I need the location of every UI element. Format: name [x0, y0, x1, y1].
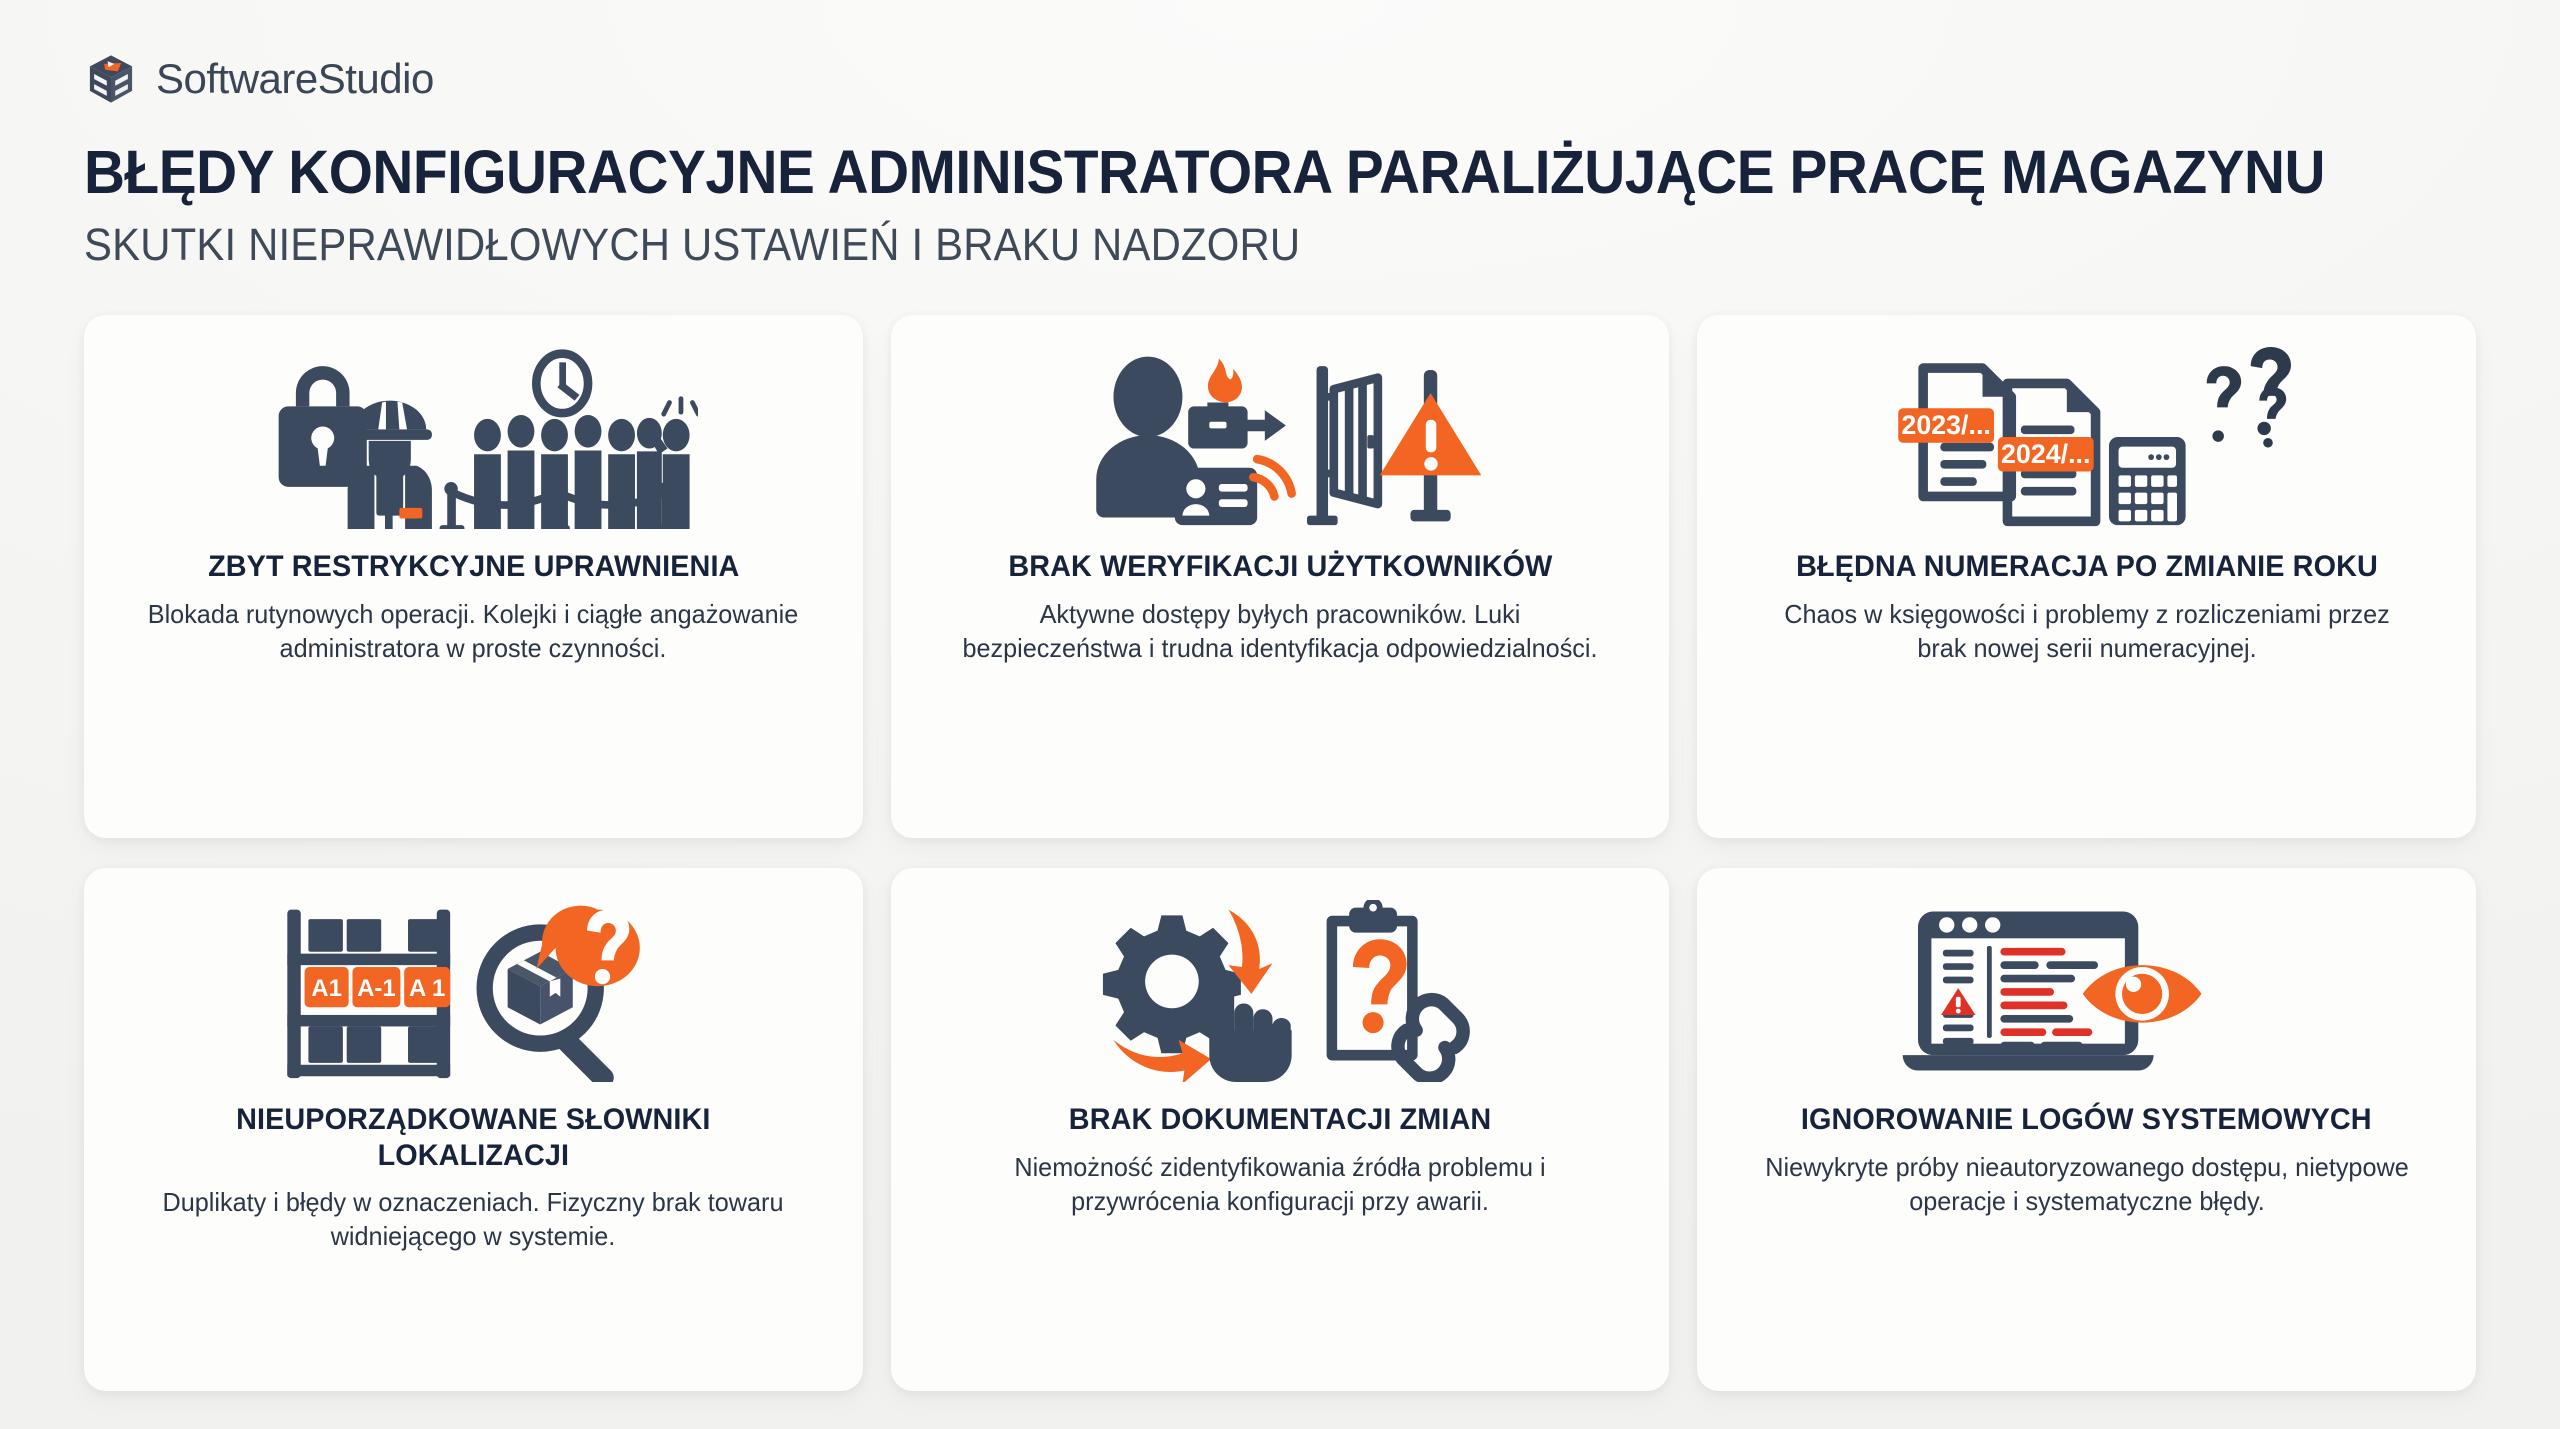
card-nieuporzadkowane-slowniki-lokalizacji: A1 A-1 A 1	[84, 868, 863, 1391]
heading-block: BŁĘDY KONFIGURACYJNE ADMINISTRATORA PARA…	[84, 140, 2488, 269]
cards-grid: ZBYT RESTRYKCYJNE UPRAWNIENIA Blokada ru…	[72, 315, 2488, 1399]
brand-header: SoftwareStudio	[84, 52, 2488, 106]
padlock-worker-queue-clock-icon	[124, 347, 823, 529]
card-brak-weryfikacji-uzytkownikow: BRAK WERYFIKACJI UŻYTKOWNIKÓW Aktywne do…	[891, 315, 1670, 838]
year-badge-2024: 2024/...	[1998, 437, 2094, 471]
card-description: Aktywne dostępy byłych pracowników. Luki…	[950, 597, 1610, 666]
location-label-a1-text: A1	[311, 975, 342, 1002]
card-title: BRAK DOKUMENTACJI ZMIAN	[1069, 1102, 1491, 1137]
card-zbyt-restrykcyjne-uprawnienia: ZBYT RESTRYKCYJNE UPRAWNIENIA Blokada ru…	[84, 315, 863, 838]
laptop-logs-warning-eye-icon	[1737, 900, 2436, 1082]
card-description: Duplikaty i błędy w oznaczeniach. Fizycz…	[144, 1185, 804, 1254]
card-description: Chaos w księgowości i problemy z rozlicz…	[1757, 597, 2417, 666]
card-title: BŁĘDNA NUMERACJA PO ZMIANIE ROKU	[1796, 549, 2378, 584]
card-brak-dokumentacji-zmian: BRAK DOKUMENTACJI ZMIAN Niemożność ziden…	[891, 868, 1670, 1391]
page-subtitle: SKUTKI NIEPRAWIDŁOWYCH USTAWIEŃ I BRAKU …	[84, 221, 2320, 270]
year-badge-2023: 2023/...	[1898, 409, 1994, 443]
cube-s-logo-icon	[84, 52, 138, 106]
card-description: Niewykryte próby nieautoryzowanego dostę…	[1757, 1150, 2417, 1219]
brand-name: SoftwareStudio	[156, 55, 434, 103]
location-label-a-dash-1: A-1	[353, 967, 401, 1007]
year-badge-2024-label: 2024/...	[2001, 439, 2090, 469]
card-description: Blokada rutynowych operacji. Kolejki i c…	[144, 597, 804, 666]
gear-hand-clipboard-question-chain-icon	[931, 900, 1630, 1082]
card-title: BRAK WERYFIKACJI UŻYTKOWNIKÓW	[1008, 549, 1552, 584]
location-label-a-dash-1-text: A-1	[357, 975, 396, 1002]
year-badge-2023-label: 2023/...	[1901, 410, 1990, 440]
warehouse-rack-labels-magnifier-icon: A1 A-1 A 1	[124, 900, 823, 1082]
card-title: NIEUPORZĄDKOWANE SŁOWNIKI LOKALIZACJI	[138, 1102, 809, 1173]
location-label-a-space-1-text: A 1	[409, 975, 445, 1002]
card-bledna-numeracja-po-zmianie-roku: 2023/... 2024/...	[1697, 315, 2476, 838]
infographic-page: SoftwareStudio BŁĘDY KONFIGURACYJNE ADMI…	[0, 0, 2560, 1429]
page-title: BŁĘDY KONFIGURACYJNE ADMINISTRATORA PARA…	[84, 140, 2320, 205]
user-badge-open-gate-warning-icon	[931, 347, 1630, 529]
card-ignorowanie-logow-systemowych: IGNOROWANIE LOGÓW SYSTEMOWYCH Niewykryte…	[1697, 868, 2476, 1391]
card-description: Niemożność zidentyfikowania źródła probl…	[950, 1150, 1610, 1219]
card-title: ZBYT RESTRYKCYJNE UPRAWNIENIA	[208, 549, 739, 584]
location-label-a-space-1: A 1	[404, 967, 450, 1007]
card-title: IGNOROWANIE LOGÓW SYSTEMOWYCH	[1801, 1102, 2372, 1137]
documents-year-badges-calculator-icon: 2023/... 2024/...	[1737, 347, 2436, 529]
location-label-a1: A1	[305, 967, 349, 1007]
